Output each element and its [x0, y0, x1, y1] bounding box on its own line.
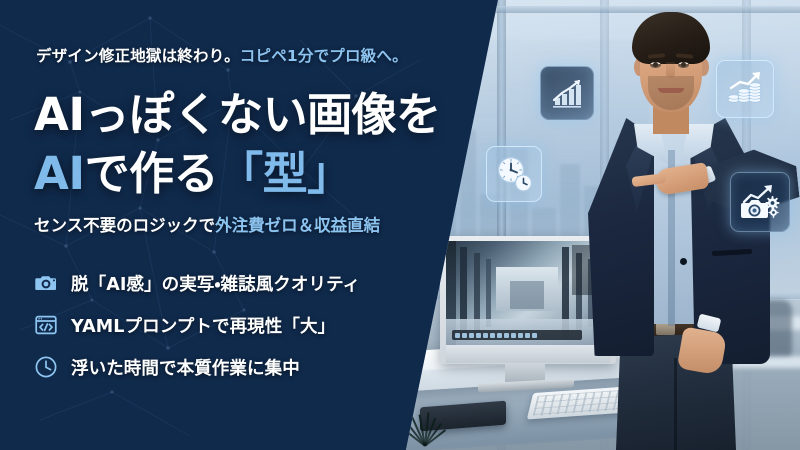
benefit-list: 脱「AI感」の実写・雑誌風クオリティ YAMLプロンプトで再現性「大」 — [33, 262, 453, 388]
coin-stacks-growth-badge — [716, 60, 774, 118]
headline-accent-suffix: 「型」 — [218, 147, 352, 200]
eyebrow-highlight: コピペ1分でプロ級へ。 — [240, 47, 408, 65]
benefit-item-2: YAMLプロンプトで再現性「大」 — [33, 304, 453, 346]
benefit-item-3-label: 浮いた時間で本質作業に集中 — [71, 355, 300, 380]
headline-line-1: AIっぽくない画像を — [34, 78, 441, 143]
jacket-button — [680, 258, 687, 265]
headline-line1-text: AIっぽくない画像を — [34, 88, 441, 141]
headline-line2-plain: で作る — [85, 147, 219, 200]
code-window-icon — [33, 313, 58, 338]
dual-clock-icon — [494, 154, 534, 194]
benefit-item-1-label: 脱「AI感」の実写・雑誌風クオリティ — [71, 271, 360, 296]
time-saving-badge — [486, 146, 542, 202]
mouth — [658, 88, 684, 93]
eye-left — [650, 62, 661, 68]
subheadline-plain: センス不要のロジックで — [34, 216, 215, 235]
camera-icon — [33, 271, 58, 296]
subheadline: センス不要のロジックで外注費ゼロ＆収益直結 — [34, 212, 380, 236]
clock-icon — [33, 355, 58, 380]
eye-right — [678, 62, 689, 68]
nose — [666, 62, 675, 78]
hair — [632, 12, 710, 64]
benefit-item-3: 浮いた時間で本質作業に集中 — [33, 346, 453, 388]
eyebrow-text: デザイン修正地獄は終わり。コピペ1分でプロ級へ。 — [36, 44, 408, 66]
eyebrow-plain: デザイン修正地獄は終わり。 — [36, 47, 240, 65]
benefit-item-1: 脱「AI感」の実写・雑誌風クオリティ — [33, 262, 453, 304]
camera-gears-arrow-icon — [739, 181, 781, 223]
bar-chart-growth-badge — [540, 66, 594, 120]
camera-automation-badge — [730, 172, 790, 232]
headline-line-2: AIで作る「型」 — [34, 137, 352, 202]
coin-stacks-arrow-icon — [726, 70, 764, 108]
benefit-item-2-label: YAMLプロンプトで再現性「大」 — [71, 313, 335, 338]
headline-accent-prefix: AI — [34, 147, 85, 200]
subheadline-highlight: 外注費ゼロ＆収益直結 — [215, 216, 380, 235]
hero-banner: デザイン修正地獄は終わり。コピペ1分でプロ級へ。 AIっぽくない画像を AIで作… — [0, 0, 800, 450]
bar-chart-arrow-icon — [550, 76, 584, 110]
